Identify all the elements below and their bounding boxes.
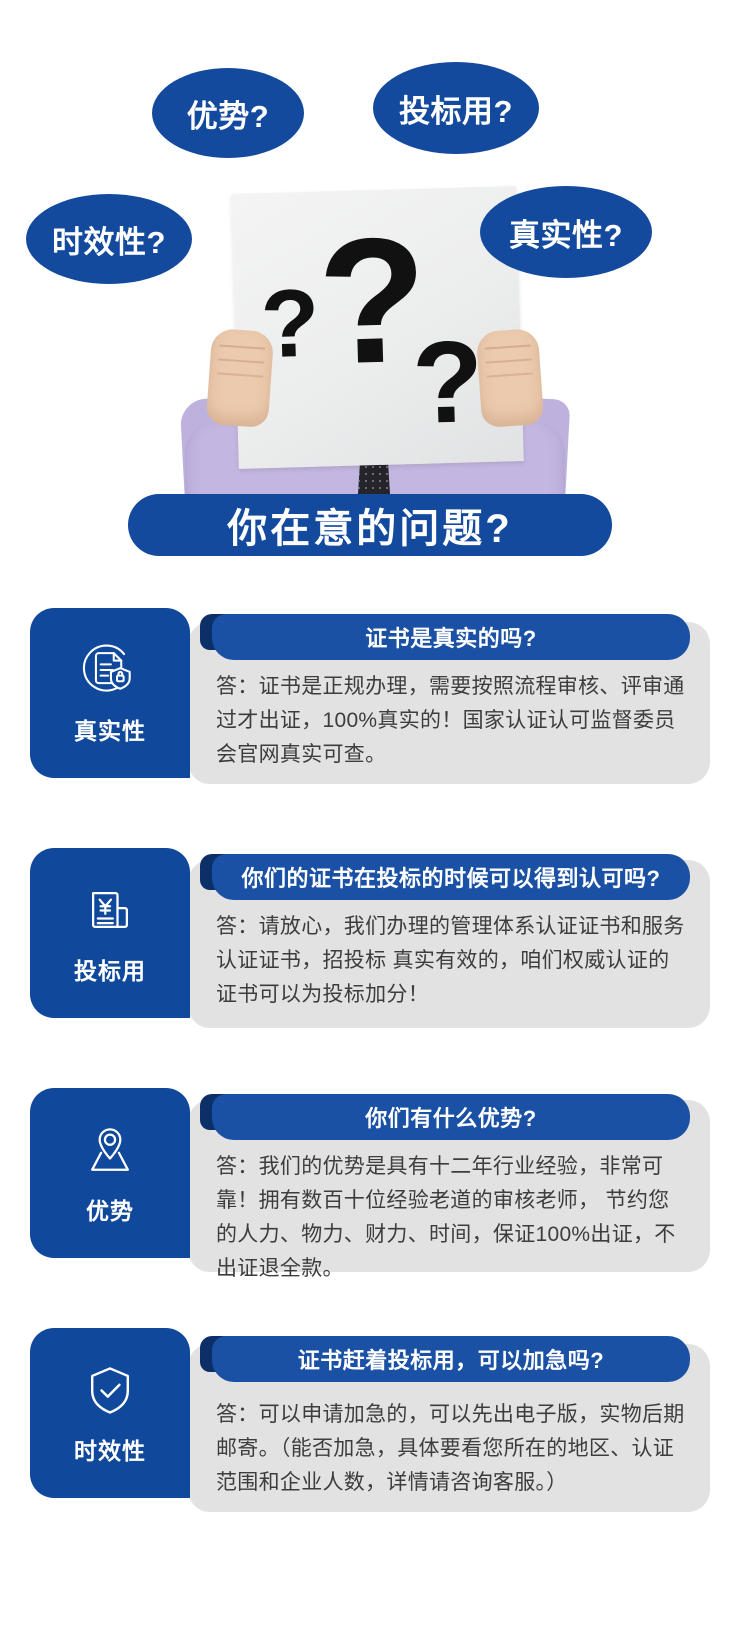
bubble-zhenshi[interactable]: 真实性? [480, 186, 652, 278]
faq-question: 证书是真实的吗? [212, 614, 690, 660]
faq-question: 证书赶着投标用，可以加急吗? [212, 1336, 690, 1382]
faq-answer: 答：请放心，我们办理的管理体系认证证书和服务认证证书，招投标 真实有效的，咱们权… [216, 910, 686, 1012]
document-shield-lock-icon [80, 640, 140, 700]
photo-hand-right [476, 328, 545, 428]
bubble-shixiao[interactable]: 时效性? [26, 194, 192, 284]
faq-answer: 答：证书是正规办理，需要按照流程审核、评审通过才出证，100%真实的！国家认证认… [216, 670, 686, 772]
hero-section: ? ? ? 优势? 投标用? 时效性? 真实性? 你在意的问题? [0, 0, 750, 600]
faq-category-label: 投标用 [74, 952, 146, 986]
faq-category-tab[interactable]: 时效性 [30, 1328, 190, 1498]
bubble-toubiao[interactable]: 投标用? [373, 62, 539, 154]
bubble-youshi[interactable]: 优势? [152, 68, 304, 158]
faq-category-tab[interactable]: 优势 [30, 1088, 190, 1258]
question-mark-medium-icon: ? [411, 323, 485, 441]
faq-category-label: 真实性 [74, 712, 146, 746]
faq-question: 你们有什么优势? [212, 1094, 690, 1140]
faq-answer: 答：可以申请加急的，可以先出电子版，实物后期邮寄。（能否加急，具体要看您所在的地… [216, 1398, 686, 1500]
page-title: 你在意的问题? [128, 494, 612, 556]
faq-category-tab[interactable]: 投标用 [30, 848, 190, 1018]
faq-category-label: 时效性 [74, 1432, 146, 1466]
faq-card[interactable]: 时效性 证书赶着投标用，可以加急吗? 答：可以申请加急的，可以先出电子版，实物后… [0, 1320, 750, 1520]
map-location-pin-icon [80, 1120, 140, 1180]
invoice-yuan-icon [80, 880, 140, 940]
faq-answer: 答：我们的优势是具有十二年行业经验，非常可靠！拥有数百十位经验老道的审核老师， … [216, 1150, 686, 1286]
faq-category-tab[interactable]: 真实性 [30, 608, 190, 778]
faq-question: 你们的证书在投标的时候可以得到认可吗? [212, 854, 690, 900]
shield-check-icon [80, 1360, 140, 1420]
faq-card[interactable]: 投标用 你们的证书在投标的时候可以得到认可吗? 答：请放心，我们办理的管理体系认… [0, 840, 750, 1040]
faq-card[interactable]: 真实性 证书是真实的吗? 答：证书是正规办理，需要按照流程审核、评审通过才出证，… [0, 600, 750, 800]
photo-hand-left [206, 328, 275, 428]
faq-list: 真实性 证书是真实的吗? 答：证书是正规办理，需要按照流程审核、评审通过才出证，… [0, 600, 750, 1560]
faq-card[interactable]: 优势 你们有什么优势? 答：我们的优势是具有十二年行业经验，非常可靠！拥有数百十… [0, 1080, 750, 1280]
faq-category-label: 优势 [86, 1192, 134, 1226]
